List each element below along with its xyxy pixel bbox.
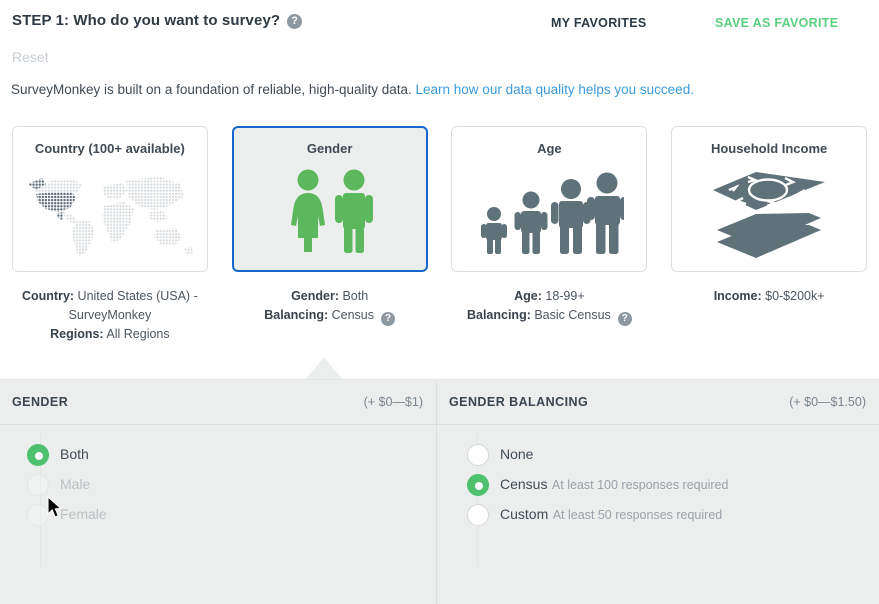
country-card-title: Country (100+ available)	[35, 141, 185, 156]
reset-link[interactable]: Reset	[12, 49, 49, 65]
age-card-title: Age	[537, 141, 562, 156]
radio-female[interactable]	[27, 504, 49, 526]
balancing-option-census-label: Census	[500, 476, 547, 492]
save-as-favorite-button[interactable]: SAVE AS FAVORITE	[715, 16, 838, 30]
balancing-option-custom-sub: At least 50 responses required	[553, 508, 723, 522]
age-meta-value-0: 18-99+	[542, 289, 585, 303]
gender-option-both-text: Both	[60, 443, 89, 465]
gender-meta-value-1: Census	[328, 308, 374, 322]
radio-both[interactable]	[27, 444, 49, 466]
gender-balancing-panel-price: (+ $0—$1.50)	[789, 395, 866, 409]
age-card-meta: Age: 18-99+ Balancing: Basic Census?	[444, 287, 654, 326]
country-card-box[interactable]: Country (100+ available)	[12, 126, 208, 272]
gender-balancing-panel-title: GENDER BALANCING	[449, 395, 588, 409]
gender-balancing-panel: GENDER BALANCING (+ $0—$1.50) None Censu…	[437, 380, 879, 604]
tagline: SurveyMonkey is built on a foundation of…	[11, 82, 694, 97]
age-meta-label-0: Age:	[514, 289, 542, 303]
criteria-card-country[interactable]: Country (100+ available)	[0, 126, 220, 344]
balancing-option-census[interactable]: Census At least 100 responses required	[437, 473, 879, 496]
criteria-card-income[interactable]: Household Income	[659, 126, 879, 344]
radio-custom[interactable]	[467, 504, 489, 526]
balancing-option-census-sub: At least 100 responses required	[552, 478, 729, 492]
balancing-option-none-label: None	[500, 446, 533, 462]
income-card-box[interactable]: Household Income	[671, 126, 867, 272]
age-meta-value-1: Basic Census	[531, 308, 611, 322]
country-card-meta: Country: United States (USA) - SurveyMon…	[5, 287, 215, 344]
world-map-icon	[13, 156, 207, 271]
gender-panel: GENDER (+ $0—$1) Both Male	[0, 380, 437, 604]
age-card-box[interactable]: Age	[451, 126, 647, 272]
balancing-option-list: None Census At least 100 responses requi…	[437, 425, 879, 526]
panel-pointer-caret	[306, 357, 342, 379]
balancing-option-none[interactable]: None	[437, 443, 879, 466]
criteria-card-gender[interactable]: Gender	[220, 126, 440, 344]
age-balancing-help-icon[interactable]: ?	[618, 312, 632, 326]
radio-census[interactable]	[467, 474, 489, 496]
gender-card-box[interactable]: Gender	[232, 126, 428, 272]
country-meta-value-1: All Regions	[104, 327, 170, 341]
gender-balancing-help-icon[interactable]: ?	[381, 312, 395, 326]
gender-card-title: Gender	[307, 141, 353, 156]
balancing-option-none-text: None	[500, 443, 533, 465]
page-title-text: STEP 1: Who do you want to survey?	[12, 12, 280, 29]
age-meta-line-0: Age: 18-99+	[444, 287, 654, 306]
gender-option-female[interactable]: Female	[0, 503, 436, 526]
gender-option-list: Both Male Female	[0, 425, 436, 526]
help-icon[interactable]: ?	[287, 14, 302, 29]
balancing-option-census-text: Census At least 100 responses required	[500, 473, 728, 495]
tagline-text: SurveyMonkey is built on a foundation of…	[11, 82, 412, 97]
gender-meta-label-0: Gender:	[291, 289, 339, 303]
balancing-option-custom[interactable]: Custom At least 50 responses required	[437, 503, 879, 526]
country-meta-line-1: Regions: All Regions	[5, 325, 215, 344]
gender-panel-title: GENDER	[12, 395, 68, 409]
page-title: STEP 1: Who do you want to survey??	[12, 12, 302, 29]
age-figures-icon	[452, 156, 646, 271]
gender-balancing-panel-header: GENDER BALANCING (+ $0—$1.50)	[437, 380, 879, 425]
gender-option-male-label: Male	[60, 476, 90, 492]
data-quality-link[interactable]: Learn how our data quality helps you suc…	[416, 82, 694, 97]
age-meta-label-1: Balancing:	[467, 308, 531, 322]
page-header: STEP 1: Who do you want to survey?? MY F…	[0, 0, 879, 110]
country-meta-label-1: Regions:	[50, 327, 103, 341]
mouse-cursor	[47, 496, 63, 524]
survey-audience-builder: STEP 1: Who do you want to survey?? MY F…	[0, 0, 879, 604]
gender-meta-line-1: Balancing: Census?	[225, 306, 435, 326]
income-card-meta: Income: $0-$200k+	[664, 287, 874, 306]
radio-male[interactable]	[27, 474, 49, 496]
income-meta-value-0: $0-$200k+	[762, 289, 825, 303]
gender-option-female-text: Female	[60, 503, 107, 525]
radio-none[interactable]	[467, 444, 489, 466]
gender-option-male-text: Male	[60, 473, 90, 495]
gender-figures-icon	[234, 156, 426, 270]
gender-panel-price: (+ $0—$1)	[364, 395, 423, 409]
criteria-card-age[interactable]: Age	[440, 126, 660, 344]
income-card-title: Household Income	[711, 141, 827, 156]
country-meta-line-0: Country: United States (USA) - SurveyMon…	[5, 287, 215, 325]
country-meta-label-0: Country:	[22, 289, 74, 303]
income-meta-label-0: Income:	[714, 289, 762, 303]
gender-option-both-label: Both	[60, 446, 89, 462]
money-stack-icon	[672, 156, 866, 271]
gender-meta-value-0: Both	[339, 289, 368, 303]
country-meta-value-0: United States (USA) - SurveyMonkey	[69, 289, 198, 322]
gender-option-female-label: Female	[60, 506, 107, 522]
gender-card-meta: Gender: Both Balancing: Census?	[225, 287, 435, 326]
detail-panels: GENDER (+ $0—$1) Both Male	[0, 379, 879, 604]
gender-option-male[interactable]: Male	[0, 473, 436, 496]
criteria-card-row: Country (100+ available)	[0, 126, 879, 344]
income-meta-line-0: Income: $0-$200k+	[664, 287, 874, 306]
age-meta-line-1: Balancing: Basic Census?	[444, 306, 654, 326]
balancing-option-custom-label: Custom	[500, 506, 548, 522]
gender-panel-header: GENDER (+ $0—$1)	[0, 380, 436, 425]
gender-option-both[interactable]: Both	[0, 443, 436, 466]
balancing-option-custom-text: Custom At least 50 responses required	[500, 503, 722, 525]
gender-meta-label-1: Balancing:	[264, 308, 328, 322]
my-favorites-button[interactable]: MY FAVORITES	[551, 16, 647, 30]
gender-meta-line-0: Gender: Both	[225, 287, 435, 306]
